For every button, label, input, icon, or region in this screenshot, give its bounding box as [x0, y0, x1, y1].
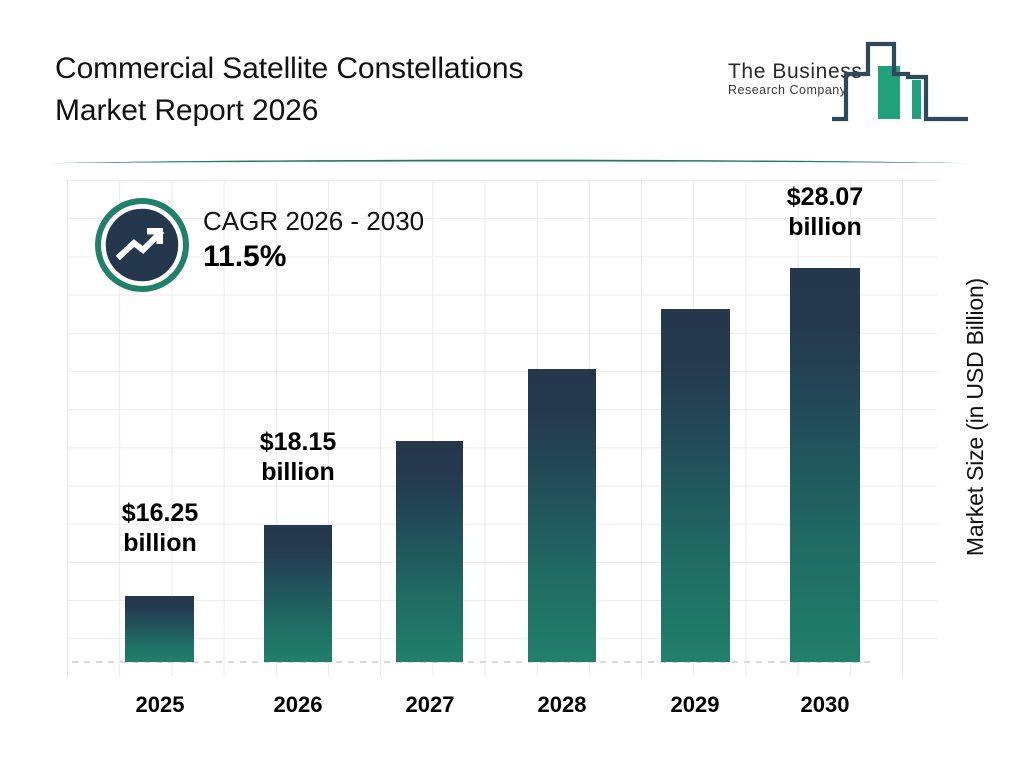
bar-2026[interactable]	[264, 525, 332, 662]
cagr-text: CAGR 2026 - 2030 11.5%	[203, 204, 424, 276]
bar-value-label-2025: $16.25 billion	[85, 498, 235, 558]
x-axis-label-2029: 2029	[620, 692, 770, 718]
company-logo: The Business Research Company	[728, 36, 968, 128]
cagr-circle	[95, 198, 189, 297]
x-axis-label-2028: 2028	[487, 692, 637, 718]
cagr-badge: CAGR 2026 - 2030 11.5%	[95, 198, 515, 298]
bar-value-label-2030: $28.07 billion	[750, 182, 900, 242]
bar-2027[interactable]	[396, 441, 463, 662]
x-axis-label-2026: 2026	[223, 692, 373, 718]
cagr-period-label: CAGR 2026 - 2030	[203, 204, 424, 238]
x-axis-label-2027: 2027	[355, 692, 505, 718]
cagr-value-label: 11.5%	[203, 238, 424, 276]
y-axis-label: Market Size (in USD Billion)	[962, 278, 989, 556]
bar-2030[interactable]	[790, 268, 860, 662]
bar-chart-logo-mark-icon	[832, 36, 968, 133]
x-axis-label-2025: 2025	[85, 692, 235, 718]
chart-page: Commercial Satellite Constellations Mark…	[0, 0, 1024, 768]
divider	[52, 155, 968, 167]
bar-value-label-2026: $18.15 billion	[223, 427, 373, 487]
bar-chart: $16.25 billion $18.15 billion $28.07 bil…	[0, 168, 1024, 768]
bar-2025[interactable]	[125, 596, 194, 662]
bar-2029[interactable]	[661, 309, 730, 662]
bar-2028[interactable]	[528, 369, 596, 662]
page-title: Commercial Satellite Constellations Mark…	[55, 48, 695, 132]
x-axis-label-2030: 2030	[750, 692, 900, 718]
